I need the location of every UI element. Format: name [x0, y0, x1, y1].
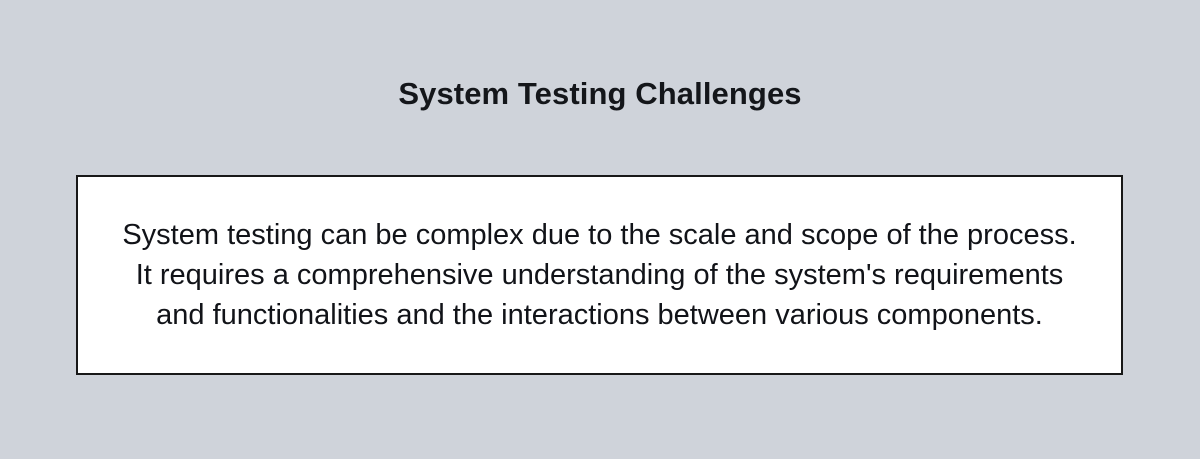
slide-canvas: System Testing Challenges System testing… [0, 0, 1200, 459]
body-paragraph: System testing can be complex due to the… [78, 215, 1121, 335]
paragraph-line: It requires a comprehensive understandin… [92, 255, 1107, 295]
page-title: System Testing Challenges [0, 74, 1200, 114]
content-box: System testing can be complex due to the… [76, 175, 1123, 375]
paragraph-line: and functionalities and the interactions… [92, 295, 1107, 335]
paragraph-line: System testing can be complex due to the… [92, 215, 1107, 255]
